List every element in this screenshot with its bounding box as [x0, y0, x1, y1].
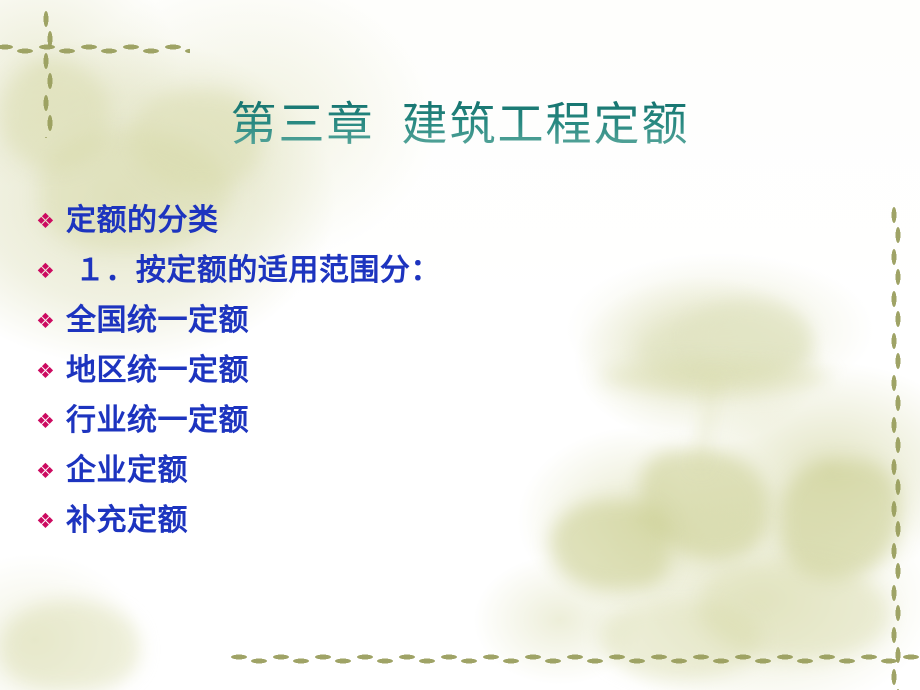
foliage-watermark: [600, 600, 760, 680]
list-item-label: 补充定额: [66, 502, 656, 540]
list-item[interactable]: ❖ 企业定额: [36, 452, 656, 502]
list-item[interactable]: ❖ 补充定额: [36, 502, 656, 552]
diamond-bullet-icon: ❖: [36, 211, 66, 232]
list-item-label: 全国统一定额: [66, 302, 656, 340]
lotus-watermark-petal: [690, 300, 810, 370]
list-item[interactable]: ❖ 地区统一定额: [36, 352, 656, 402]
lotus-stem-watermark: [694, 375, 720, 470]
list-item[interactable]: ❖ １．按定额的适用范围分：: [36, 252, 656, 302]
list-item-label: 企业定额: [66, 452, 656, 490]
lotus-watermark-petal: [640, 320, 810, 380]
diamond-bullet-icon: ❖: [36, 461, 66, 482]
diamond-bullet-icon: ❖: [36, 511, 66, 532]
diamond-bullet-icon: ❖: [36, 411, 66, 432]
slide-title: 第三章 建筑工程定额: [0, 95, 920, 155]
bamboo-horizontal-rule-bottom: [228, 652, 920, 666]
foliage-watermark: [780, 460, 900, 580]
bamboo-horizontal-rule-top: [0, 42, 190, 56]
list-item[interactable]: ❖ 定额的分类: [36, 202, 656, 252]
diamond-bullet-icon: ❖: [36, 361, 66, 382]
list-item[interactable]: ❖ 行业统一定额: [36, 402, 656, 452]
bamboo-vertical-stem-right: [889, 204, 903, 690]
list-item[interactable]: ❖ 全国统一定额: [36, 302, 656, 352]
diamond-bullet-icon: ❖: [36, 261, 66, 282]
list-item-label: 行业统一定额: [66, 402, 656, 440]
list-item-label: 地区统一定额: [66, 352, 656, 390]
foliage-watermark: [0, 600, 140, 690]
foliage-watermark: [700, 560, 890, 660]
diamond-bullet-icon: ❖: [36, 311, 66, 332]
bullet-list: ❖ 定额的分类 ❖ １．按定额的适用范围分： ❖ 全国统一定额 ❖ 地区统一定额…: [36, 202, 656, 552]
list-item-label: １．按定额的适用范围分：: [66, 252, 656, 290]
foliage-watermark: [640, 450, 770, 560]
presentation-slide: 第三章 建筑工程定额 ❖ 定额的分类 ❖ １．按定额的适用范围分： ❖ 全国统一…: [0, 0, 920, 690]
list-item-label: 定额的分类: [66, 202, 656, 240]
